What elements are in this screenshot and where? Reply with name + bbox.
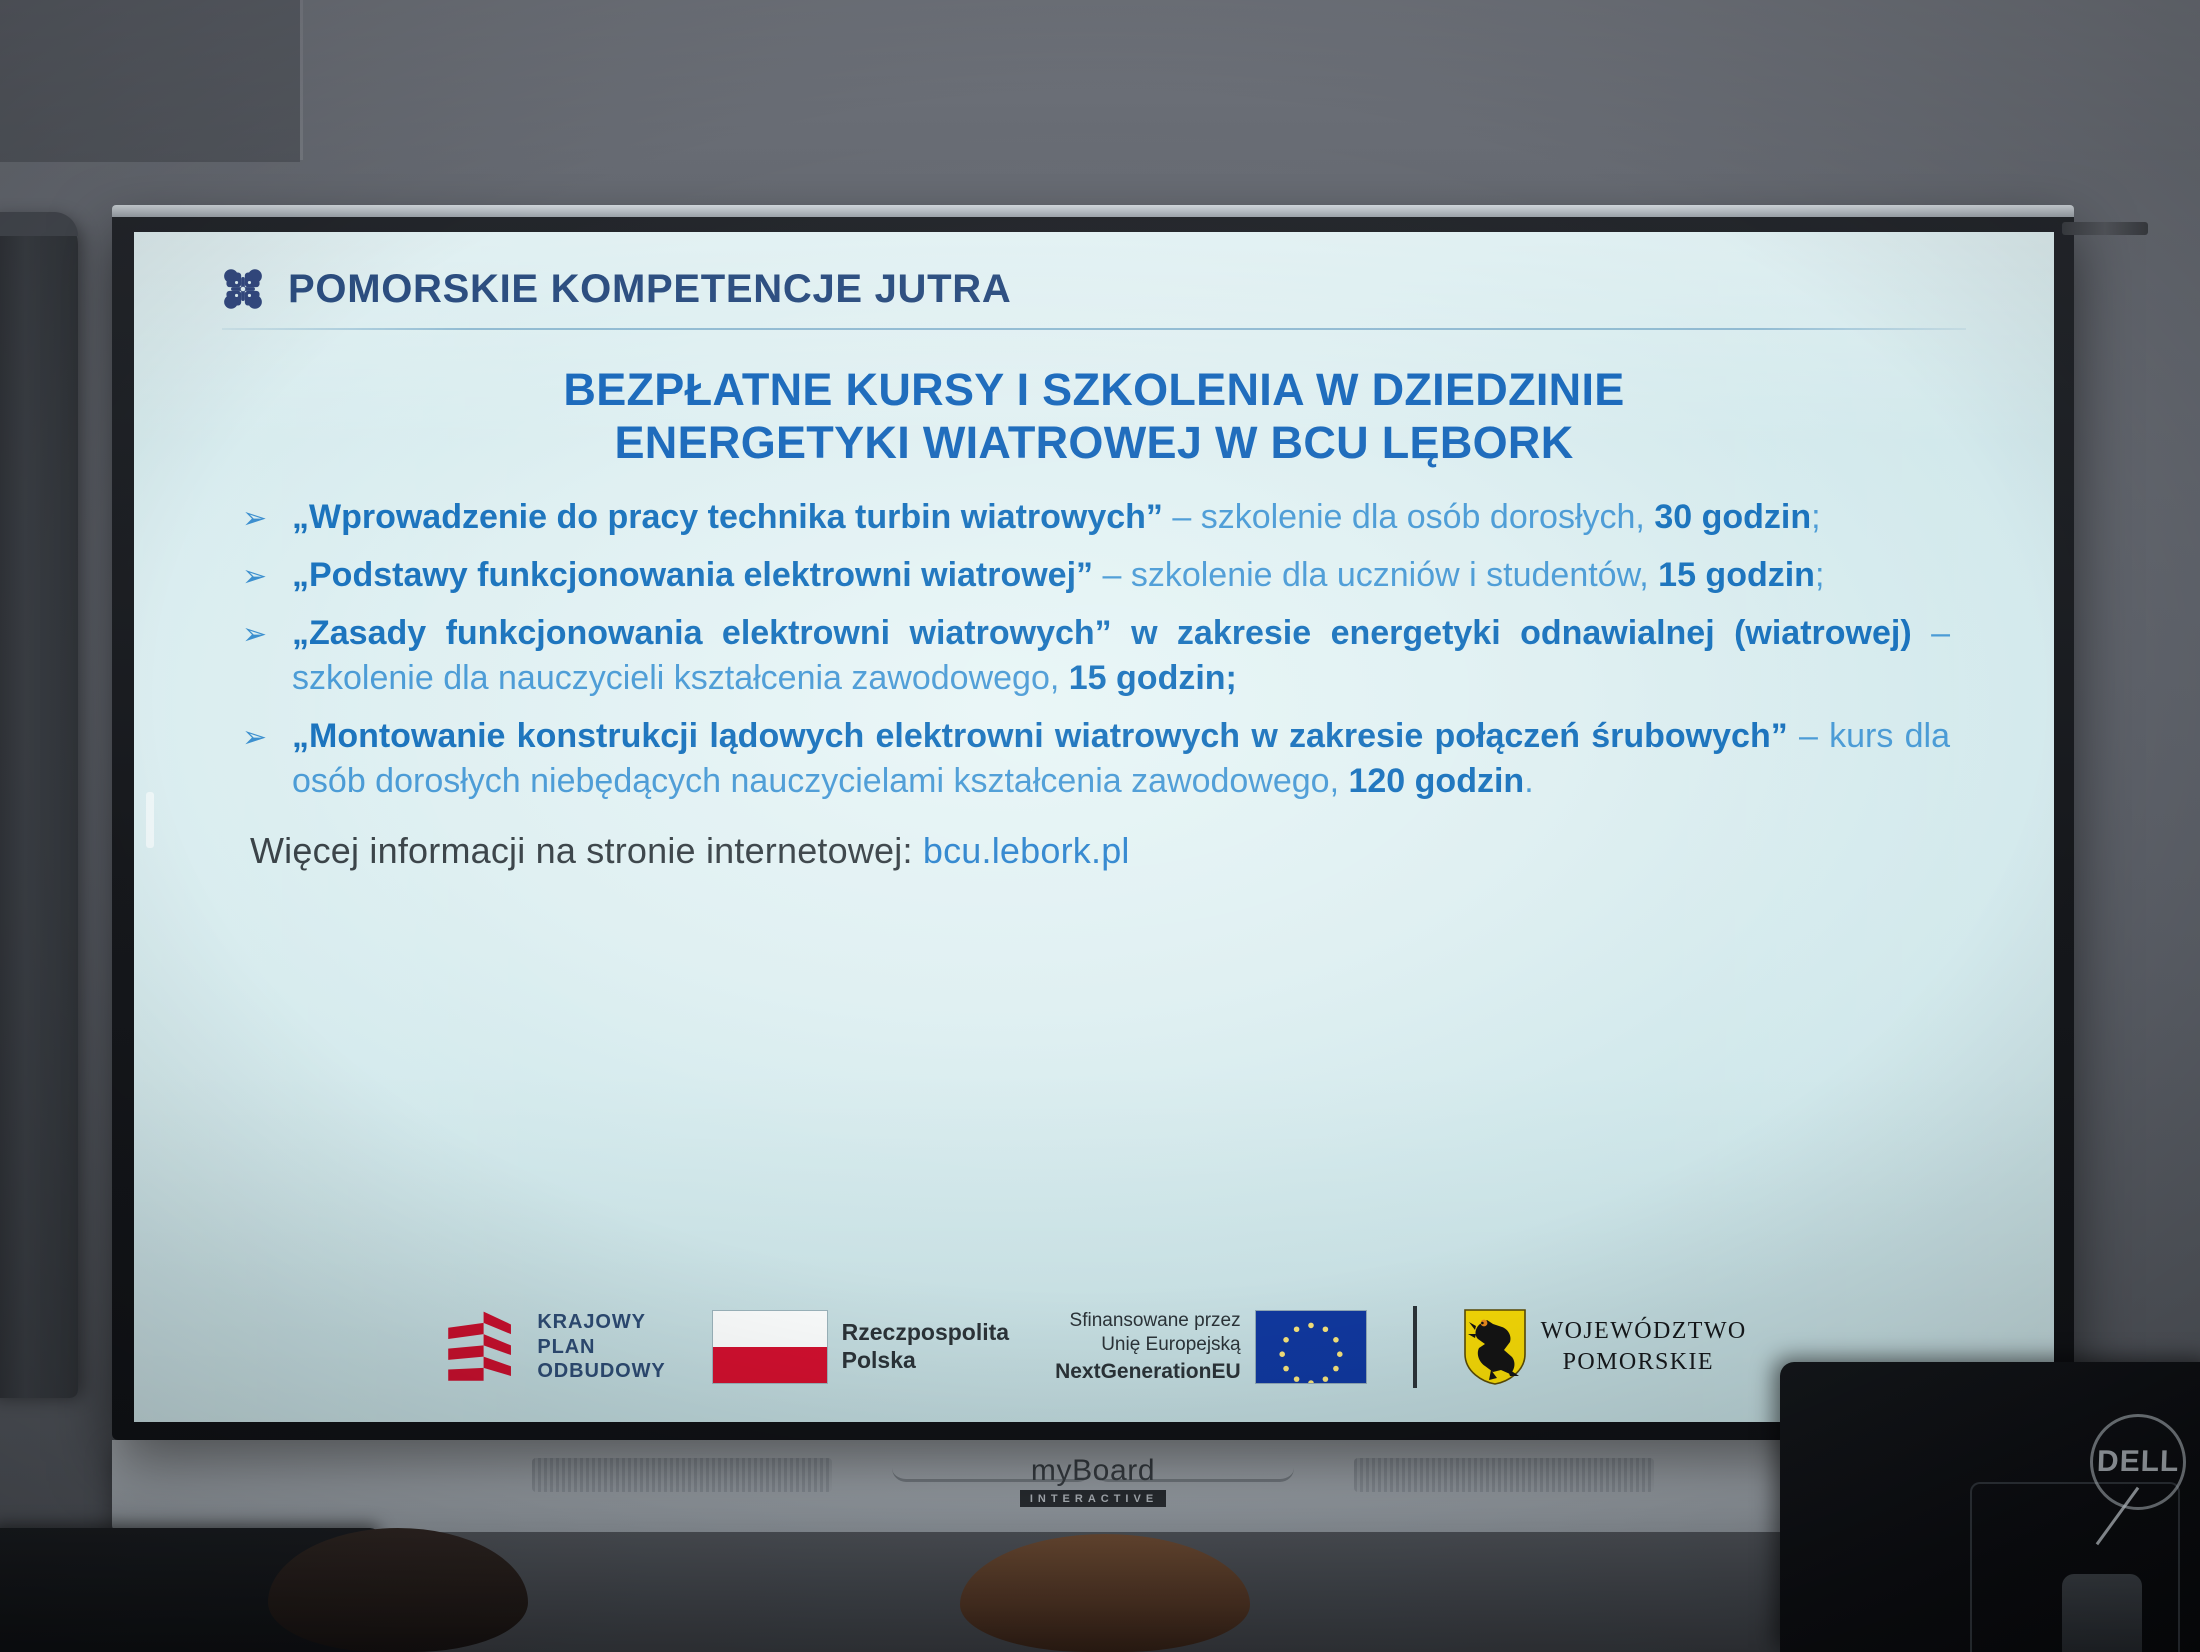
rp-logo-text: Rzeczpospolita Polska — [842, 1319, 1009, 1374]
bullet-text-run: „Zasady funkcjonowania elektrowni wiatro… — [292, 614, 1912, 652]
logo-bar-divider — [1413, 1306, 1417, 1388]
kpo-line-2: PLAN — [537, 1335, 665, 1359]
bullet-text-run: 15 godzin — [1658, 556, 1815, 594]
wall-panel-right — [303, 0, 2200, 160]
eu-flag-icon — [1255, 1310, 1367, 1384]
display-screen[interactable]: POMORSKIE KOMPETENCJE JUTRA BEZPŁATNE KU… — [134, 232, 2054, 1422]
bullet-arrow-icon: ➢ — [242, 557, 267, 597]
bullet-arrow-icon: ➢ — [242, 499, 267, 539]
kpo-logo-block: KRAJOWY PLAN ODBUDOWY — [441, 1310, 665, 1384]
slide-title: BEZPŁATNE KURSY I SZKOLENIA W DZIEDZINIE… — [196, 364, 1992, 469]
myboard-brand-subtitle: INTERACTIVE — [1020, 1490, 1166, 1507]
rzeczpospolita-polska-logo-block: Rzeczpospolita Polska — [712, 1310, 1009, 1384]
bullet-item: ➢„Zasady funkcjonowania elektrowni wiatr… — [292, 611, 1950, 701]
brand-title: POMORSKIE KOMPETENCJE JUTRA — [288, 267, 1011, 312]
eu-line-3: NextGenerationEU — [1055, 1358, 1241, 1385]
dell-monitor-stand-neck — [2062, 1574, 2142, 1652]
bullet-item: ➢„Podstawy funkcjonowania elektrowni wia… — [292, 553, 1950, 598]
bullet-list: ➢„Wprowadzenie do pracy technika turbin … — [196, 495, 1992, 803]
bullet-text-run: „Podstawy funkcjonowania elektrowni wiat… — [292, 556, 1093, 594]
bcu-website-link[interactable]: bcu.lebork.pl — [923, 830, 1130, 871]
kpo-line-3: ODBUDOWY — [537, 1359, 665, 1383]
bullet-text-run: – szkolenie dla uczniów i studentów, — [1093, 556, 1658, 594]
display-camera-strip — [2062, 222, 2148, 235]
kpo-logo-text: KRAJOWY PLAN ODBUDOWY — [537, 1310, 665, 1383]
display-top-lip — [112, 205, 2074, 217]
pomorskie-logo-text: WOJEWÓDZTWO POMORSKIE — [1541, 1316, 1747, 1378]
bullet-arrow-icon: ➢ — [242, 718, 267, 758]
more-info-line: Więcej informacji na stronie internetowe… — [196, 830, 1992, 872]
poland-flag-icon — [712, 1310, 828, 1384]
pomorskie-line-2: POMORSKIE — [1541, 1347, 1747, 1378]
kpo-line-1: KRAJOWY — [537, 1310, 665, 1334]
slide-title-line-2: ENERGETYKI WIATROWEJ W BCU LĘBORK — [196, 417, 1992, 470]
rp-line-1: Rzeczpospolita — [842, 1319, 1009, 1347]
bullet-item: ➢„Montowanie konstrukcji lądowych elektr… — [292, 714, 1950, 804]
eu-line-2: Unię Europejską — [1055, 1333, 1241, 1358]
slide-title-line-1: BEZPŁATNE KURSY I SZKOLENIA W DZIEDZINIE — [196, 364, 1992, 417]
wall-panel-left — [0, 0, 300, 162]
interactive-display-frame: POMORSKIE KOMPETENCJE JUTRA BEZPŁATNE KU… — [112, 210, 2074, 1440]
dell-logo-icon: DELL — [2090, 1414, 2186, 1510]
bullet-text-run: – szkolenie dla osób dorosłych, — [1163, 498, 1654, 536]
eu-funding-logo-block: Sfinansowane przez Unię Europejską NextG… — [1055, 1309, 1367, 1386]
funding-logo-bar: KRAJOWY PLAN ODBUDOWY Rzeczpospolita Pol… — [134, 1306, 2054, 1388]
bullet-text-run: „Wprowadzenie do pracy technika turbin w… — [292, 498, 1163, 536]
bullet-arrow-icon: ➢ — [242, 615, 267, 655]
eu-funding-text: Sfinansowane przez Unię Europejską NextG… — [1055, 1309, 1241, 1386]
pomorskie-flower-logo-icon — [220, 266, 266, 312]
krajowy-plan-odbudowy-icon — [441, 1310, 523, 1384]
more-info-label: Więcej informacji na stronie internetowe… — [250, 830, 923, 871]
dell-wordmark: DELL — [2096, 1445, 2180, 1479]
pomorskie-griffin-crest-icon — [1463, 1308, 1527, 1386]
slide-header: POMORSKIE KOMPETENCJE JUTRA — [196, 266, 1992, 312]
speaker-column-cap — [0, 212, 78, 236]
bullet-text-run: 120 godzin — [1348, 762, 1524, 800]
bullet-text-run: ; — [1815, 556, 1824, 594]
wojewodztwo-pomorskie-logo-block: WOJEWÓDZTWO POMORSKIE — [1463, 1308, 1747, 1386]
bullet-text-run: 30 godzin — [1654, 498, 1811, 536]
header-divider — [222, 328, 1966, 330]
photo-scene: POMORSKIE KOMPETENCJE JUTRA BEZPŁATNE KU… — [0, 0, 2200, 1652]
bullet-text-run: 15 godzin; — [1069, 659, 1237, 697]
pomorskie-line-1: WOJEWÓDZTWO — [1541, 1316, 1747, 1347]
bullet-text-run: „Montowanie konstrukcji lądowych elektro… — [292, 717, 1788, 755]
bullet-text-run: ; — [1811, 498, 1820, 536]
speaker-column — [0, 218, 78, 1398]
wall-seam — [300, 0, 303, 160]
eu-line-1: Sfinansowane przez — [1055, 1309, 1241, 1334]
bullet-text-run: . — [1524, 762, 1533, 800]
presentation-slide: POMORSKIE KOMPETENCJE JUTRA BEZPŁATNE KU… — [134, 232, 2054, 1422]
dell-monitor: DELL — [1780, 1362, 2200, 1652]
bullet-item: ➢„Wprowadzenie do pracy technika turbin … — [292, 495, 1950, 540]
rp-line-2: Polska — [842, 1347, 1009, 1375]
